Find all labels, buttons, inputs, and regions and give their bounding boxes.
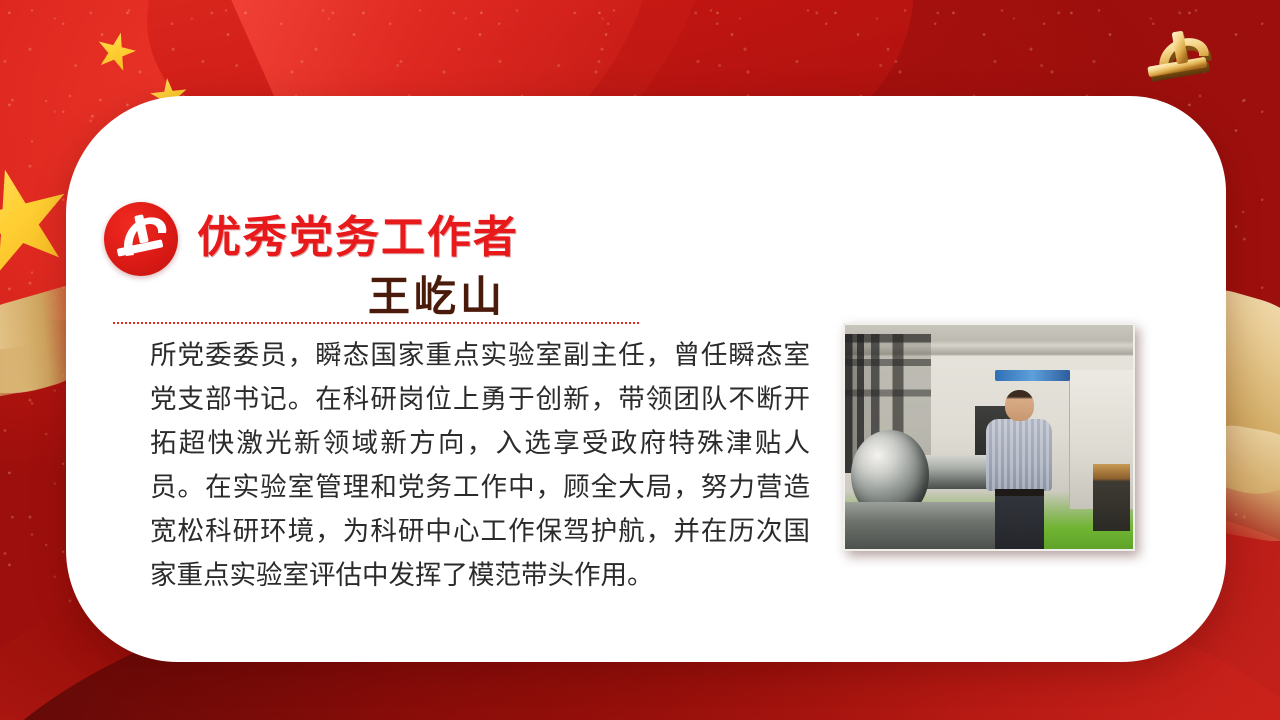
person-name: 王屹山 bbox=[368, 263, 506, 324]
page-title: 优秀党务工作者 bbox=[197, 201, 519, 265]
photo-optical-table bbox=[845, 502, 995, 549]
photo-side-desk bbox=[1093, 464, 1130, 531]
photo-person-shirt bbox=[986, 419, 1052, 491]
laboratory-portrait-photo bbox=[843, 323, 1135, 551]
biography-text: 所党委委员，瞬态国家重点实验室副主任，曾任瞬态室党支部书记。在科研岗位上勇于创新… bbox=[150, 333, 810, 597]
photo-scene bbox=[845, 325, 1133, 549]
photo-person-belt bbox=[995, 489, 1044, 497]
photo-person-legs bbox=[995, 493, 1044, 549]
slide-root: 优秀党务工作者 王屹山 所党委委员，瞬态国家重点实验室副主任，曾任瞬态室党支部书… bbox=[0, 0, 1280, 720]
dotted-divider bbox=[113, 322, 639, 324]
photo-blue-panel bbox=[995, 370, 1070, 381]
gold-hammer-sickle-emblem-icon bbox=[1132, 18, 1228, 96]
party-emblem-hammer-sickle-icon bbox=[104, 202, 178, 276]
photo-person-head bbox=[1005, 390, 1034, 421]
flag-star-small-1 bbox=[92, 28, 140, 76]
